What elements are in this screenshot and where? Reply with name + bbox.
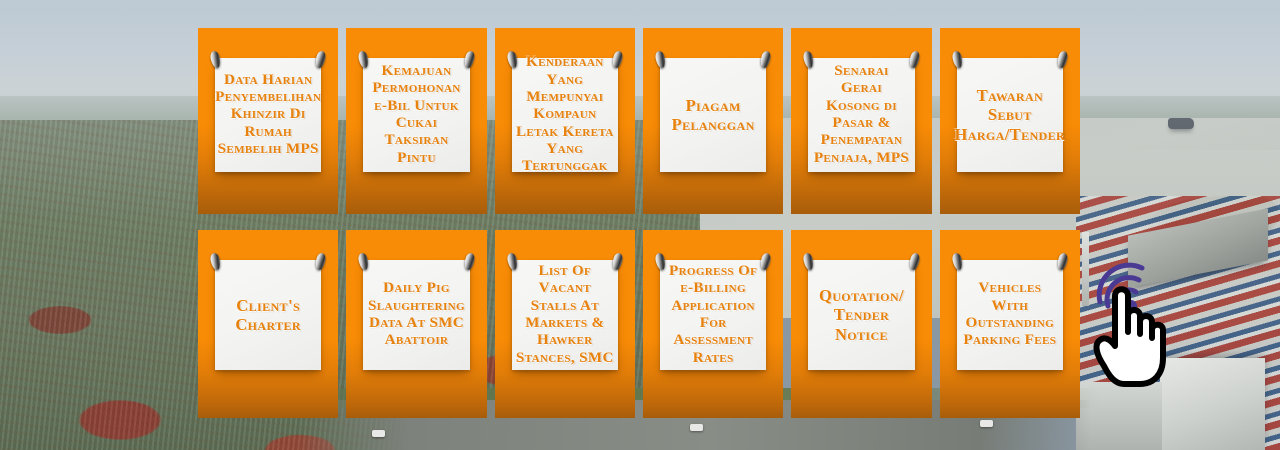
card-kenderaan-kompaun-letak-kereta[interactable]: Kenderaan Yang Mempunyai Kompaun Letak K… xyxy=(495,28,635,214)
note-paper: Data Harian Penyembelihan Khinzir Di Rum… xyxy=(215,58,321,172)
card-label: Piagam Pelanggan xyxy=(664,96,762,134)
port-crane xyxy=(1082,232,1089,306)
card-label: Daily Pig Slaughtering Data At SMC Abatt… xyxy=(367,280,465,350)
card-clients-charter[interactable]: Client's Charter xyxy=(198,230,338,418)
pin-icon xyxy=(760,50,772,68)
card-label: Vehicles With Outstanding Parking Fees xyxy=(961,280,1059,350)
pin-icon xyxy=(209,50,221,68)
note-paper: Senarai Gerai Kosong di Pasar & Penempat… xyxy=(808,58,914,172)
card-kemajuan-permohonan-ebil[interactable]: Kemajuan Permohonan e-Bil Untuk Cukai Ta… xyxy=(346,28,486,214)
pin-icon xyxy=(506,50,518,68)
note-paper: Kenderaan Yang Mempunyai Kompaun Letak K… xyxy=(512,58,618,172)
pin-icon xyxy=(951,50,963,68)
note-paper: Kemajuan Permohonan e-Bil Untuk Cukai Ta… xyxy=(363,58,469,172)
card-label: Kenderaan Yang Mempunyai Kompaun Letak K… xyxy=(516,54,614,176)
pin-icon xyxy=(611,252,623,270)
pin-icon xyxy=(506,252,518,270)
pin-icon xyxy=(463,50,475,68)
card-data-harian-penyembelihan[interactable]: Data Harian Penyembelihan Khinzir Di Rum… xyxy=(198,28,338,214)
pin-icon xyxy=(315,252,327,270)
pin-icon xyxy=(951,252,963,270)
card-label: Progress Of e-Billing Application For As… xyxy=(664,263,762,367)
note-paper: Tawaran Sebut Harga/Tender xyxy=(957,58,1063,172)
note-paper: Vehicles With Outstanding Parking Fees xyxy=(957,260,1063,370)
card-row-top: Data Harian Penyembelihan Khinzir Di Rum… xyxy=(198,28,1080,214)
vehicle xyxy=(980,420,993,427)
card-vehicles-outstanding-parking-fees[interactable]: Vehicles With Outstanding Parking Fees xyxy=(940,230,1080,418)
pin-icon xyxy=(654,50,666,68)
pin-icon xyxy=(1056,50,1068,68)
quick-link-card-grid: Data Harian Penyembelihan Khinzir Di Rum… xyxy=(198,28,1080,418)
card-label: Client's Charter xyxy=(219,296,317,334)
card-quotation-tender-notice[interactable]: Quotation/ Tender Notice xyxy=(791,230,931,418)
pin-icon xyxy=(209,252,221,270)
pin-icon xyxy=(358,252,370,270)
port-building-a xyxy=(1160,358,1265,450)
card-label: List Of Vacant Stalls At Markets & Hawke… xyxy=(516,263,614,367)
card-label: Tawaran Sebut Harga/Tender xyxy=(955,86,1066,143)
pin-icon xyxy=(908,252,920,270)
card-label: Senarai Gerai Kosong di Pasar & Penempat… xyxy=(812,63,910,167)
pin-icon xyxy=(611,50,623,68)
card-label: Quotation/ Tender Notice xyxy=(812,286,910,343)
note-paper: Daily Pig Slaughtering Data At SMC Abatt… xyxy=(363,260,469,370)
card-tawaran-sebut-harga-tender[interactable]: Tawaran Sebut Harga/Tender xyxy=(940,28,1080,214)
river-barge xyxy=(1168,118,1194,129)
card-row-bottom: Client's Charter Daily Pig Slaughtering … xyxy=(198,230,1080,418)
note-paper: Piagam Pelanggan xyxy=(660,58,766,172)
vehicle xyxy=(372,430,385,437)
pin-icon xyxy=(908,50,920,68)
note-paper: Progress Of e-Billing Application For As… xyxy=(660,260,766,370)
pin-icon xyxy=(463,252,475,270)
card-list-of-vacant-stalls[interactable]: List Of Vacant Stalls At Markets & Hawke… xyxy=(495,230,635,418)
pin-icon xyxy=(315,50,327,68)
note-paper: Quotation/ Tender Notice xyxy=(808,260,914,370)
pin-icon xyxy=(760,252,772,270)
card-piagam-pelanggan[interactable]: Piagam Pelanggan xyxy=(643,28,783,214)
card-daily-pig-slaughtering-data[interactable]: Daily Pig Slaughtering Data At SMC Abatt… xyxy=(346,230,486,418)
note-paper: Client's Charter xyxy=(215,260,321,370)
card-label: Data Harian Penyembelihan Khinzir Di Rum… xyxy=(215,72,321,159)
pin-icon xyxy=(803,252,815,270)
pin-icon xyxy=(1056,252,1068,270)
note-paper: List Of Vacant Stalls At Markets & Hawke… xyxy=(512,260,618,370)
card-label: Kemajuan Permohonan e-Bil Untuk Cukai Ta… xyxy=(367,63,465,167)
vehicle xyxy=(690,424,703,431)
card-progress-ebilling-assessment[interactable]: Progress Of e-Billing Application For As… xyxy=(643,230,783,418)
card-senarai-gerai-kosong[interactable]: Senarai Gerai Kosong di Pasar & Penempat… xyxy=(791,28,931,214)
